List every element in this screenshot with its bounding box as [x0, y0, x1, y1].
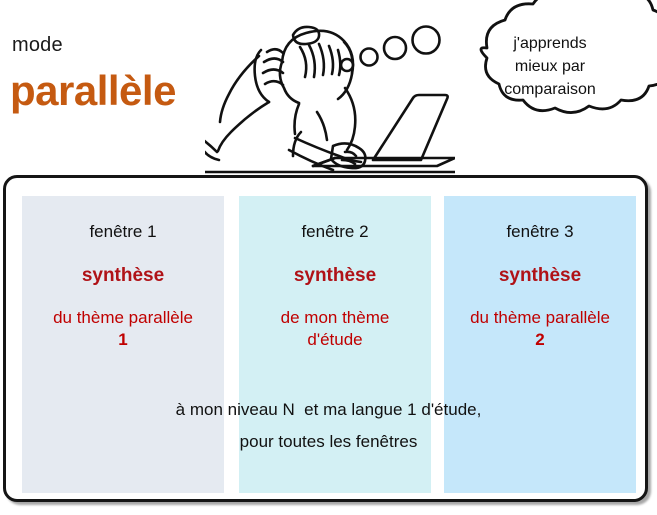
window-2-theme-line-2: d'étude	[307, 330, 362, 349]
page-title: parallèle	[10, 70, 176, 112]
window-column-2-body: fenêtre 2 synthèse de mon thème d'étude	[239, 196, 431, 351]
cloud-text-line-1: j'apprends	[470, 32, 630, 55]
window-column-3[interactable]: fenêtre 3 synthèse du thème parallèle 2	[444, 196, 636, 493]
window-2-title: fenêtre 2	[239, 223, 431, 240]
window-column-1-body: fenêtre 1 synthèse du thème parallèle 1	[22, 196, 224, 351]
cloud-text-line-3: comparaison	[470, 78, 630, 101]
window-column-2[interactable]: fenêtre 2 synthèse de mon thème d'étude	[239, 196, 431, 493]
thought-cloud-text: j'apprends mieux par comparaison	[470, 32, 630, 102]
window-1-title: fenêtre 1	[22, 223, 224, 240]
window-2-theme: de mon thème d'étude	[239, 307, 431, 351]
window-3-theme-line-2: 2	[535, 330, 544, 349]
window-column-3-body: fenêtre 3 synthèse du thème parallèle 2	[444, 196, 636, 351]
mode-label: mode	[12, 35, 63, 55]
window-3-synthese-label: synthèse	[444, 266, 636, 285]
cloud-text-line-2: mieux par	[470, 55, 630, 78]
window-columns: fenêtre 1 synthèse du thème parallèle 1 …	[6, 178, 651, 505]
window-column-1[interactable]: fenêtre 1 synthèse du thème parallèle 1	[22, 196, 224, 493]
window-1-theme-line-2: 1	[118, 330, 127, 349]
window-1-theme-line-1: du thème parallèle	[53, 308, 193, 327]
parallel-mode-card: fenêtre 1 synthèse du thème parallèle 1 …	[3, 175, 648, 502]
window-3-title: fenêtre 3	[444, 223, 636, 240]
window-3-theme-line-1: du thème parallèle	[470, 308, 610, 327]
window-2-theme-line-1: de mon thème	[281, 308, 390, 327]
thought-bubble-dots-icon	[335, 18, 460, 80]
window-1-synthese-label: synthèse	[22, 266, 224, 285]
window-3-theme: du thème parallèle 2	[444, 307, 636, 351]
window-2-synthese-label: synthèse	[239, 266, 431, 285]
window-1-theme: du thème parallèle 1	[22, 307, 224, 351]
